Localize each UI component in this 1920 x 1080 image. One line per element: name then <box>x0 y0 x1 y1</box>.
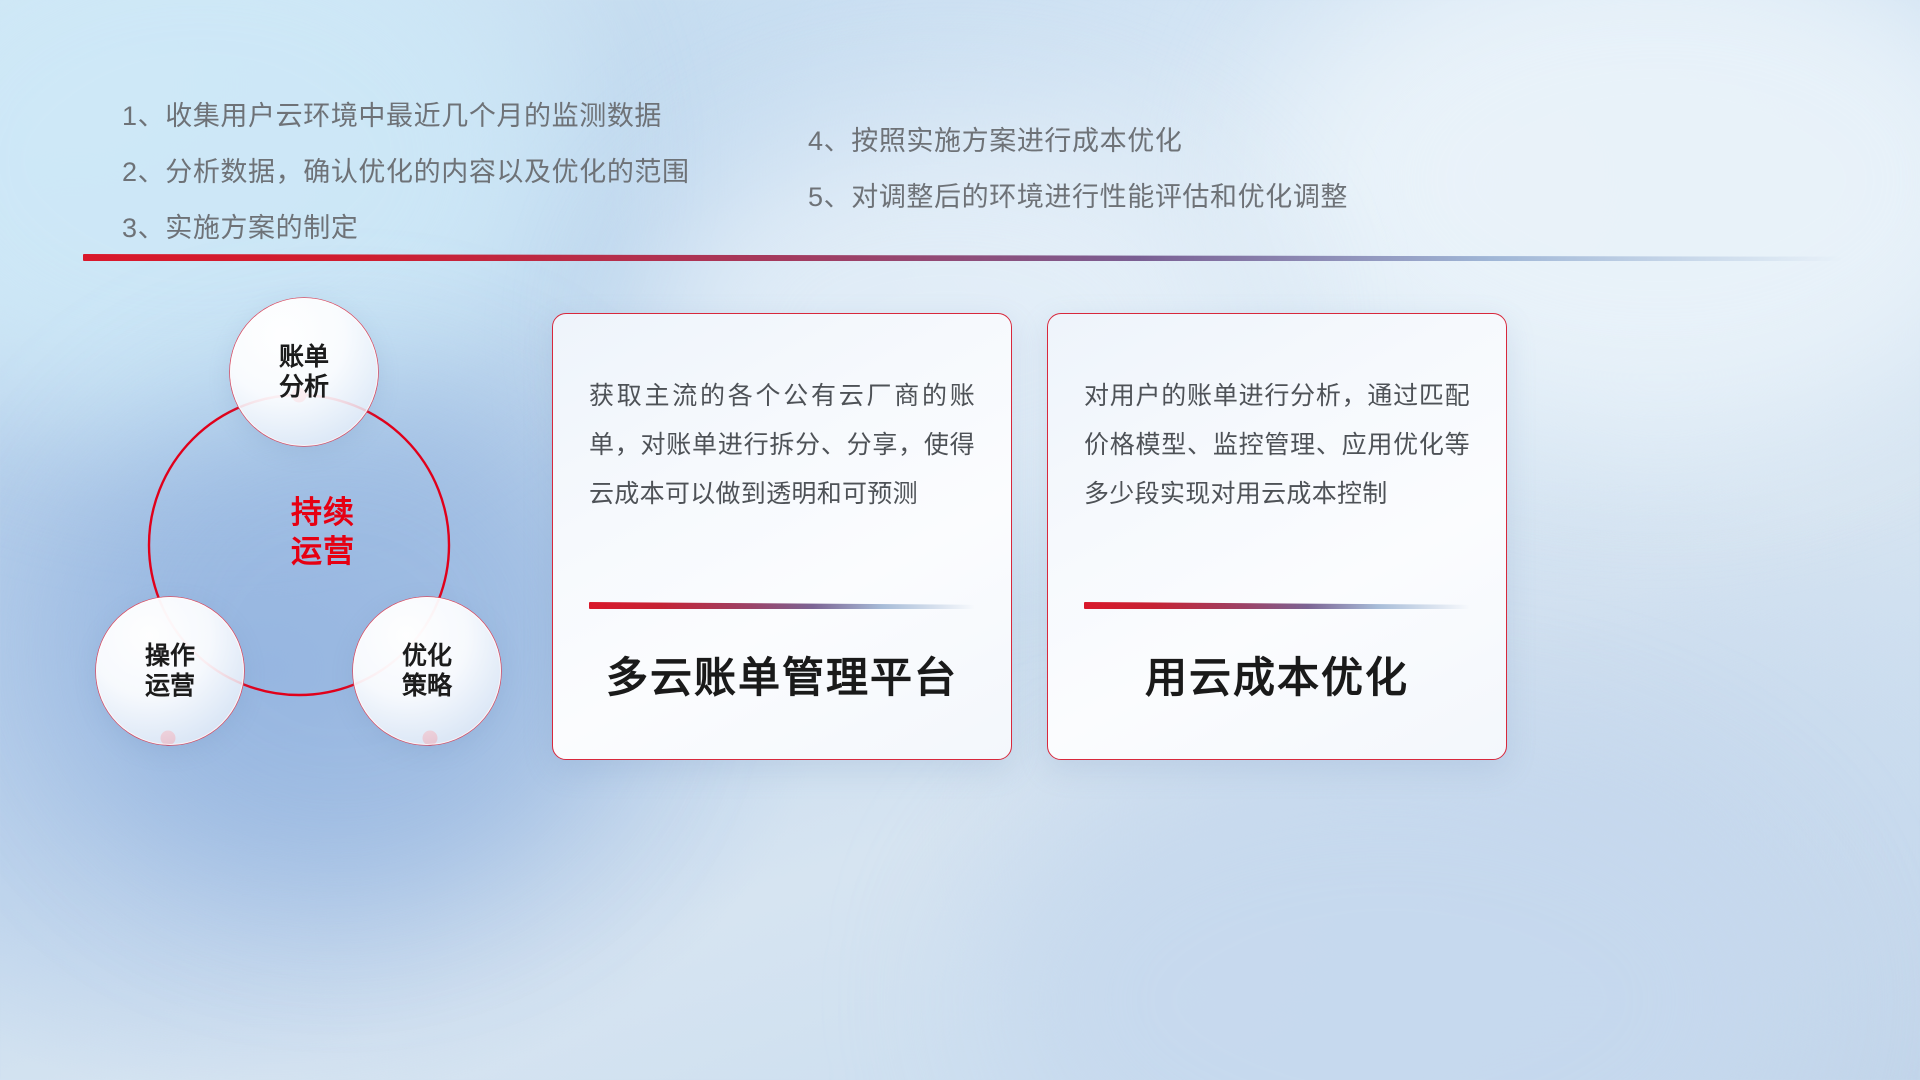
section-divider-rule <box>83 254 1843 261</box>
step-item-3: 3、实施方案的制定 <box>122 215 690 242</box>
step-item-2: 2、分析数据，确认优化的内容以及优化的范围 <box>122 159 690 186</box>
steps-right-column: 4、按照实施方案进行成本优化 5、对调整后的环境进行性能评估和优化调整 <box>808 128 1348 211</box>
bubble-label: 优化策略 <box>402 641 452 702</box>
center-label-line-2: 运营 <box>263 532 383 571</box>
diagram-center-label: 持续 运营 <box>263 493 383 571</box>
step-item-1: 1、收集用户云环境中最近几个月的监测数据 <box>122 103 690 130</box>
bubble-bill-analysis[interactable]: 账单分析 <box>230 298 378 446</box>
bubble-label: 账单分析 <box>279 342 329 403</box>
card-title: 用云成本优化 <box>1048 644 1506 705</box>
slide-canvas: 1、收集用户云环境中最近几个月的监测数据 2、分析数据，确认优化的内容以及优化的… <box>0 0 1920 1080</box>
steps-left-column: 1、收集用户云环境中最近几个月的监测数据 2、分析数据，确认优化的内容以及优化的… <box>122 103 690 242</box>
step-item-4: 4、按照实施方案进行成本优化 <box>808 128 1348 155</box>
card-cloud-cost-optimization[interactable]: 对用户的账单进行分析，通过匹配价格模型、监控管理、应用优化等多少段实现对用云成本… <box>1047 313 1507 760</box>
card-title: 多云账单管理平台 <box>553 644 1011 705</box>
step-item-5: 5、对调整后的环境进行性能评估和优化调整 <box>808 184 1348 211</box>
bubble-operation-ops[interactable]: 操作运营 <box>96 597 244 745</box>
continuous-operation-diagram: 账单分析 操作运营 优化策略 持续 运营 <box>88 288 558 768</box>
card-description: 获取主流的各个公有云厂商的账单，对账单进行拆分、分享，使得云成本可以做到透明和可… <box>589 372 975 518</box>
center-label-line-1: 持续 <box>263 493 383 532</box>
bubble-optimization-policy[interactable]: 优化策略 <box>353 597 501 745</box>
bubble-label: 操作运营 <box>145 641 195 702</box>
card-multi-cloud-bill-platform[interactable]: 获取主流的各个公有云厂商的账单，对账单进行拆分、分享，使得云成本可以做到透明和可… <box>552 313 1012 760</box>
card-description: 对用户的账单进行分析，通过匹配价格模型、监控管理、应用优化等多少段实现对用云成本… <box>1084 372 1470 518</box>
